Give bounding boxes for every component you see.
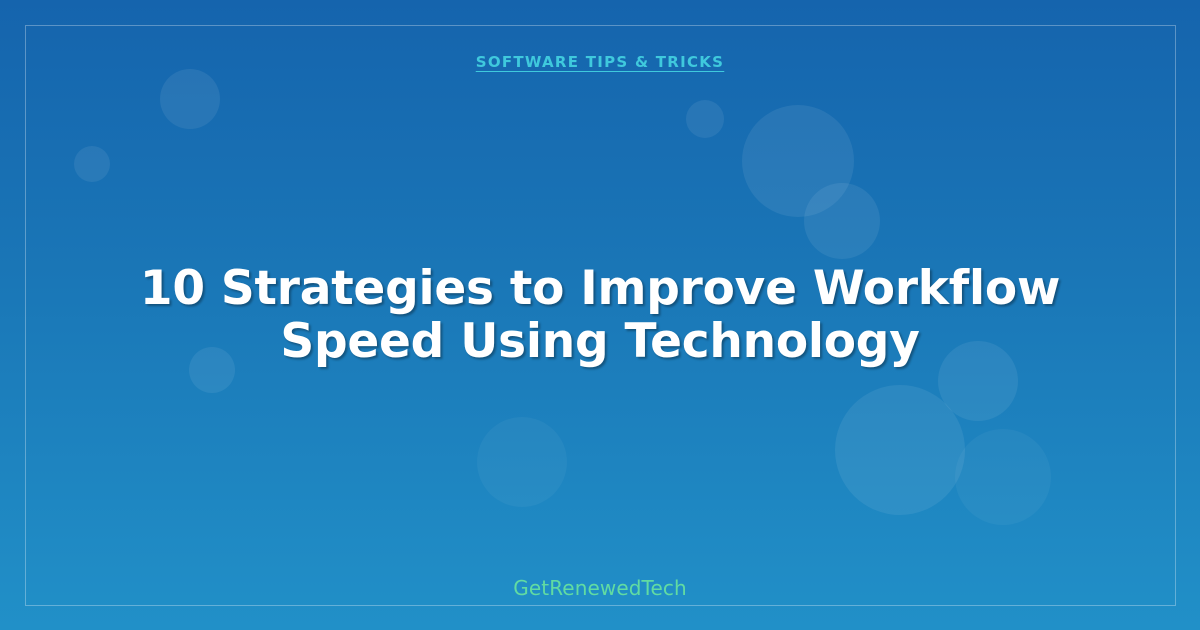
- card-footer: GetRenewedTech: [0, 576, 1200, 600]
- headline-container: 10 Strategies to Improve Workflow Speed …: [70, 0, 1130, 630]
- page-title: 10 Strategies to Improve Workflow Speed …: [78, 262, 1123, 368]
- brand-name: GetRenewedTech: [513, 576, 686, 600]
- card-content: SOFTWARE TIPS & TRICKS 10 Strategies to …: [0, 0, 1200, 630]
- social-share-card: SOFTWARE TIPS & TRICKS 10 Strategies to …: [0, 0, 1200, 630]
